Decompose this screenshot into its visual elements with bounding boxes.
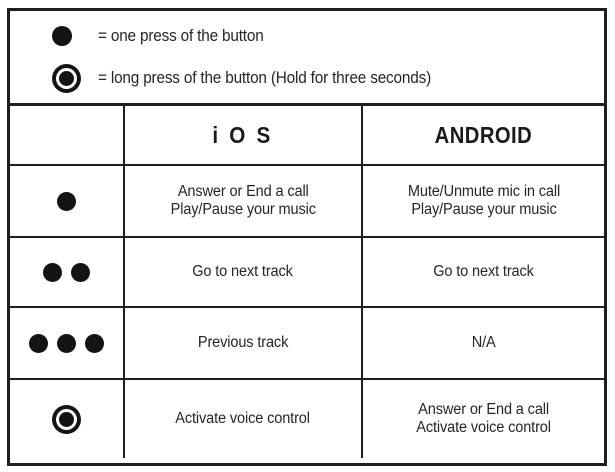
- cell-android-two-press: Go to next track: [363, 238, 604, 306]
- button-control-reference-sheet: = one press of the button = long press o…: [0, 0, 615, 472]
- cell-text-line2: Play/Pause your music: [407, 201, 559, 219]
- cell-text-line1: Answer or End a call: [178, 183, 309, 200]
- three-dots-icon: [29, 334, 104, 353]
- two-dots-icon: [43, 263, 90, 282]
- table-frame: = one press of the button = long press o…: [7, 8, 607, 466]
- ring-dot-icon: [52, 64, 98, 93]
- one-dot-icon: [57, 192, 76, 211]
- cell-ios-long-press: Activate voice control: [125, 380, 363, 458]
- cell-android-three-press: N/A: [363, 308, 604, 378]
- cell-android-one-press: Mute/Unmute mic in call Play/Pause your …: [363, 166, 604, 236]
- header-cell-android: ANDROID: [363, 106, 604, 164]
- legend-section: = one press of the button = long press o…: [10, 11, 604, 106]
- legend-item-single-press: = one press of the button: [52, 15, 604, 57]
- cell-gesture-three-press: [10, 308, 125, 378]
- cell-ios-two-press: Go to next track: [125, 238, 363, 306]
- cell-gesture-long-press: [10, 380, 125, 458]
- table-header-row: i O S ANDROID: [10, 106, 604, 166]
- cell-ios-three-press: Previous track: [125, 308, 363, 378]
- cell-text-line1: N/A: [472, 334, 496, 351]
- cell-android-long-press: Answer or End a call Activate voice cont…: [363, 380, 604, 458]
- cell-text-line2: Play/Pause your music: [170, 201, 315, 219]
- cell-gesture-one-press: [10, 166, 125, 236]
- cell-text-line1: Answer or End a call: [418, 401, 549, 418]
- platform-comparison-table: i O S ANDROID Answer or End a call Play/…: [10, 106, 604, 463]
- legend-label-long-press: = long press of the button (Hold for thr…: [98, 69, 431, 88]
- cell-gesture-two-press: [10, 238, 125, 306]
- header-label-android: ANDROID: [435, 122, 533, 149]
- cell-text-line1: Previous track: [198, 334, 288, 351]
- table-row: Answer or End a call Play/Pause your mus…: [10, 166, 604, 238]
- ring-dot-icon: [52, 405, 81, 434]
- header-cell-ios: i O S: [125, 106, 363, 164]
- header-label-ios: i O S: [213, 122, 274, 149]
- header-cell-gesture: [10, 106, 125, 164]
- table-row: Previous track N/A: [10, 308, 604, 380]
- legend-item-long-press: = long press of the button (Hold for thr…: [52, 57, 604, 99]
- cell-ios-one-press: Answer or End a call Play/Pause your mus…: [125, 166, 363, 236]
- table-row: Go to next track Go to next track: [10, 238, 604, 308]
- cell-text-line2: Activate voice control: [416, 419, 551, 437]
- legend-label-single-press: = one press of the button: [98, 27, 264, 46]
- cell-text-line1: Go to next track: [433, 263, 534, 280]
- filled-dot-icon: [52, 26, 98, 46]
- table-row: Activate voice control Answer or End a c…: [10, 380, 604, 458]
- cell-text-line1: Go to next track: [193, 263, 294, 280]
- cell-text-line1: Mute/Unmute mic in call: [407, 183, 559, 200]
- cell-text-line1: Activate voice control: [176, 410, 311, 427]
